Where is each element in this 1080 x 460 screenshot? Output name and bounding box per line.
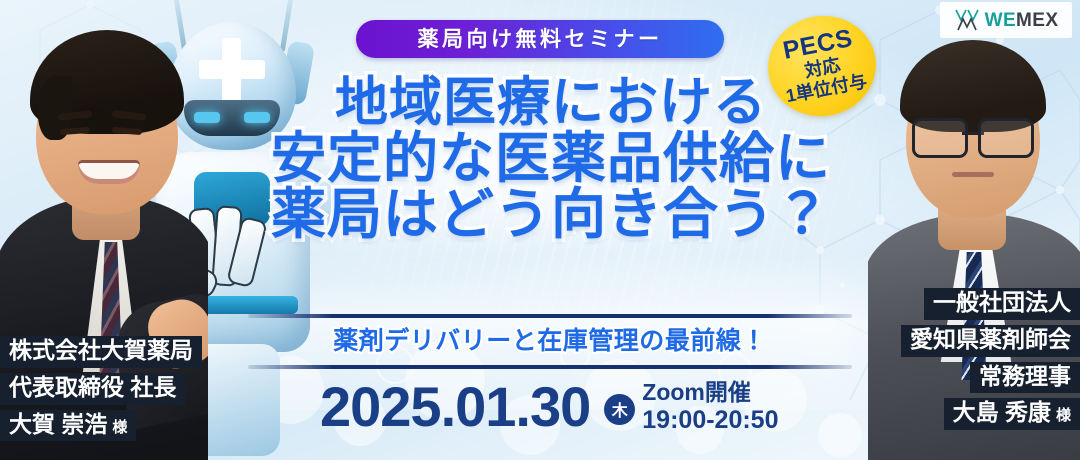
- seminar-type-badge: 薬局向け無料セミナー: [356, 20, 724, 58]
- event-time: 19:00-20:50: [642, 406, 778, 434]
- subtitle-block: 薬剤デリバリーと在庫管理の最前線！: [248, 314, 852, 369]
- speaker-nameplate-right: 一般社団法人 愛知県薬剤師会 常務理事 大島 秀康様: [901, 288, 1080, 430]
- speaker-left-company: 株式会社大賀薬局: [0, 336, 202, 368]
- speaker-left-name-text: 大賀 崇浩: [9, 411, 107, 437]
- speaker-left-honorific: 様: [112, 419, 127, 436]
- speaker-right-org: 愛知県薬剤師会: [901, 325, 1080, 357]
- wemex-logo-we: WE: [985, 10, 1016, 31]
- wemex-logo[interactable]: WEMEX: [940, 2, 1072, 38]
- event-platform-time: Zoom開催 19:00-20:50: [642, 380, 778, 434]
- headline-line-1: 地域医療における: [246, 76, 856, 130]
- event-platform: Zoom開催: [642, 380, 778, 406]
- speaker-nameplate-left: 株式会社大賀薬局 代表取締役 社長 大賀 崇浩様: [0, 336, 202, 441]
- speaker-right-title: 常務理事: [970, 362, 1080, 394]
- headline-block: 地域医療における 安定的な医薬品供給に 薬局はどう向き合う？: [246, 76, 856, 242]
- event-weekday-badge: 木: [604, 394, 635, 425]
- headline-line-3: 薬局はどう向き合う？: [246, 186, 856, 242]
- seminar-type-label: 薬局向け無料セミナー: [418, 29, 663, 50]
- speaker-right-honorific: 様: [1056, 407, 1071, 424]
- event-schedule: 2025.01.30 木 Zoom開催 19:00-20:50: [320, 374, 790, 440]
- subtitle-rule-bottom: [248, 365, 852, 369]
- event-date: 2025.01.30: [320, 379, 590, 435]
- speaker-left-name: 大賀 崇浩様: [0, 410, 136, 442]
- wemex-w-mark-icon: [954, 8, 980, 32]
- headline-line-2: 安定的な医薬品供給に: [246, 130, 856, 186]
- speaker-right-name-text: 大島 秀康: [953, 399, 1051, 425]
- wemex-logo-mex: MEX: [1016, 10, 1058, 31]
- speaker-right-org-type: 一般社団法人: [924, 288, 1080, 320]
- subtitle-text: 薬剤デリバリーと在庫管理の最前線！: [248, 318, 852, 365]
- speaker-right-name: 大島 秀康様: [944, 398, 1080, 430]
- speaker-left-title: 代表取締役 社長: [0, 373, 185, 405]
- seminar-banner: 薬局向け無料セミナー PECS 対応 1単位付与 WEMEX 地域医療における …: [0, 0, 1080, 460]
